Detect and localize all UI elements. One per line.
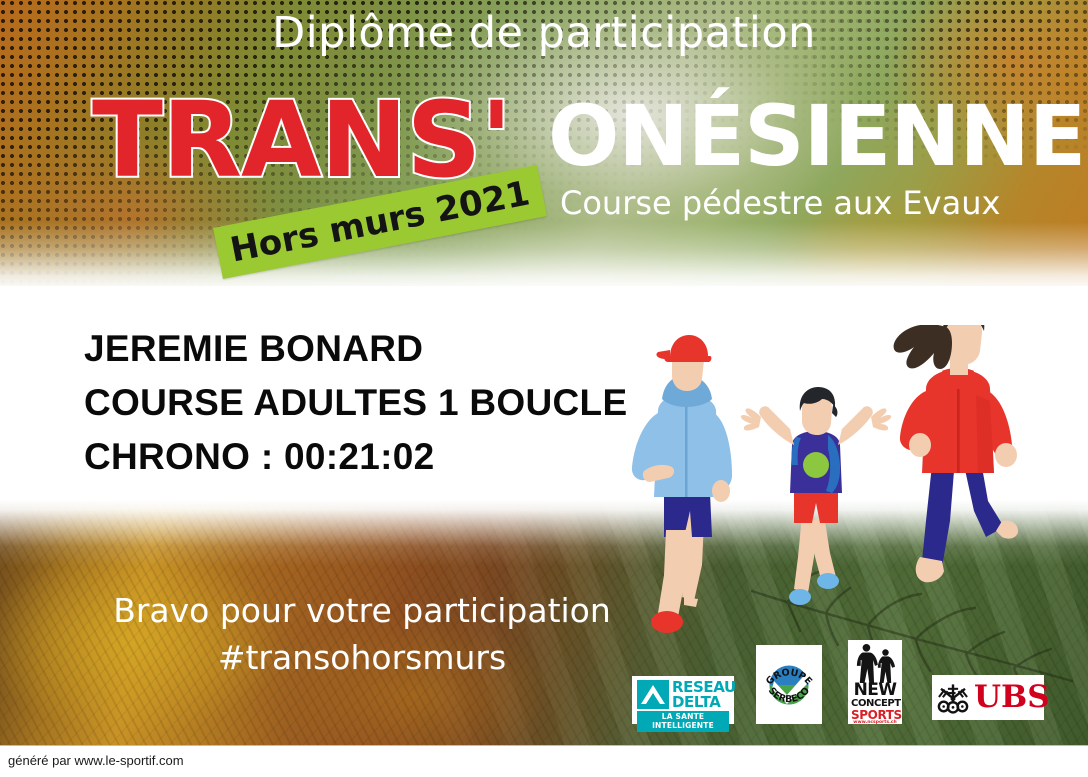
sponsor-logo-groupe-serbeco[interactable]: GROUPE SERBECO (756, 645, 822, 724)
sponsor-logo-new-concept-sports[interactable]: NEW CONCEPT SPORTS www.ncsports.ch (848, 640, 902, 724)
delta-word-delta: DELTA (672, 695, 736, 709)
sponsor-logo-reseau-delta[interactable]: RESEAU DELTA LA SANTE INTELLIGENTE (632, 676, 734, 724)
hashtag-line: #transohorsmurs (82, 635, 642, 682)
delta-tagline: LA SANTE INTELLIGENTE (637, 711, 729, 732)
sponsor-logos: RESEAU DELTA LA SANTE INTELLIGENTE GROUP… (630, 640, 1050, 732)
chrono-time: CHRONO : 00:21:02 (84, 430, 704, 484)
result-details: JEREMIE BONARD COURSE ADULTES 1 BOUCLE C… (84, 322, 704, 484)
logo-subtitle: Course pédestre aux Evaux (560, 184, 1000, 222)
runner-red-jacket-figure (894, 325, 1018, 582)
logo-trans-text: TRANS' (92, 88, 511, 192)
ncs-runners-icon (852, 643, 898, 683)
delta-triangle-icon (637, 680, 669, 709)
race-category: COURSE ADULTES 1 BOUCLE (84, 376, 704, 430)
ncs-url: www.ncsports.ch (851, 721, 899, 726)
page-footer: généré par www.le-sportif.com (0, 745, 1088, 777)
serbeco-emblem-icon: GROUPE SERBECO (756, 645, 822, 724)
runner-child-figure (741, 387, 891, 605)
runners-illustration (628, 325, 1058, 655)
participation-diploma: Diplôme de participation TRANS' ONÉSIENN… (0, 0, 1088, 777)
bravo-line: Bravo pour votre participation (82, 588, 642, 635)
runner-blue-jacket-figure (632, 335, 732, 633)
generated-by-text: généré par www.le-sportif.com (8, 753, 184, 768)
sponsor-logo-ubs[interactable]: UBS (932, 675, 1044, 720)
ubs-three-keys-icon (936, 681, 970, 715)
congratulation-message: Bravo pour votre participation #transoho… (82, 588, 642, 682)
ncs-line-new: NEW (851, 683, 899, 699)
ubs-wordmark: UBS (974, 682, 1050, 713)
logo-onesienne-text: ONÉSIENNE (548, 94, 1085, 178)
participant-name: JEREMIE BONARD (84, 322, 704, 376)
ncs-line-sports: SPORTS (851, 709, 899, 721)
page-title: Diplôme de participation (0, 8, 1088, 58)
